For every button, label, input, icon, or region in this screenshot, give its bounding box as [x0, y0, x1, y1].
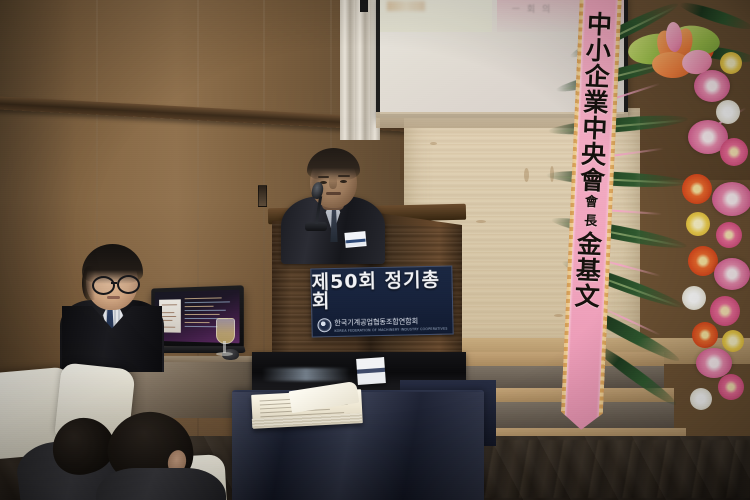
- ribbon-char: 中: [582, 116, 608, 143]
- gerbera-flower: [718, 374, 744, 400]
- decorative-bow: [628, 12, 724, 76]
- wine-glass-foot: [216, 352, 233, 356]
- lily-flower: [712, 182, 750, 216]
- speaker-name-badge: [344, 231, 366, 248]
- gerbera-flower: [716, 222, 742, 248]
- screen-mount: [360, 0, 368, 12]
- podium-sign-org-block: 한국기계공업협동조합연합회 KOREA FEDERATION OF MACHIN…: [317, 315, 447, 333]
- foreground-attendee-shoulder: [96, 468, 226, 500]
- chrysanthemum-flower: [722, 330, 744, 352]
- chrysanthemum-flower: [682, 286, 706, 310]
- projected-slide-text: ㅡ 회 의: [512, 2, 553, 15]
- ribbon-title-char: 長: [584, 215, 598, 231]
- ribbon-char: 業: [583, 90, 609, 117]
- gerbera-flower: [692, 322, 718, 348]
- congratulatory-flower-wreath: 中 小 企 業 中 央 會 會 長 金 基 文: [570, 0, 750, 466]
- speaker-nose: [329, 176, 337, 189]
- tissue-box[interactable]: [356, 357, 386, 385]
- podium-sign: 제50회 정기총회 한국기계공업협동조합연합회 KOREA FEDERATION…: [310, 266, 453, 338]
- eyeglasses-icon: [92, 276, 115, 295]
- congratulatory-ribbon: 中 小 企 業 中 央 會 會 長 金 基 文: [560, 0, 622, 431]
- seated-man-mouth: [107, 296, 120, 299]
- ribbon-name-char: 基: [575, 257, 601, 284]
- federation-emblem-icon: [317, 318, 331, 332]
- chrysanthemum-flower: [686, 212, 710, 236]
- wall-switch-plate[interactable]: [258, 185, 267, 207]
- tray-reflection: [262, 368, 350, 381]
- ribbon-char: 中: [586, 12, 612, 39]
- conference-photo: ㅡ 회 의 제50회 정기총회 한국기계공업협동조합연합회 KOREA FED: [0, 0, 750, 500]
- speaker-eye: [340, 180, 347, 183]
- gerbera-flower: [710, 296, 740, 326]
- speaker-mouth: [326, 192, 341, 195]
- ribbon-char: 央: [581, 142, 607, 169]
- window-curtain: [340, 0, 380, 140]
- eyeglasses-bridge: [111, 282, 117, 284]
- wine-glass: [216, 318, 235, 344]
- ribbon-char: 企: [584, 64, 610, 91]
- lily-flower: [714, 258, 750, 290]
- ribbon-title-char: 會: [585, 196, 599, 212]
- chrysanthemum-flower: [690, 388, 712, 410]
- ribbon-char: 小: [585, 38, 611, 65]
- podium-sign-headline: 제50회 정기총회: [311, 270, 452, 311]
- ribbon-name-char: 文: [574, 283, 600, 310]
- eyeglasses-icon: [117, 275, 140, 294]
- ribbon-name-char: 金: [576, 231, 602, 258]
- ribbon-char: 會: [579, 167, 605, 194]
- chrysanthemum-flower: [716, 100, 740, 124]
- gerbera-flower: [682, 174, 712, 204]
- wall-seam: [197, 0, 199, 500]
- projected-slide-image: [380, 0, 492, 32]
- gerbera-flower: [720, 138, 748, 166]
